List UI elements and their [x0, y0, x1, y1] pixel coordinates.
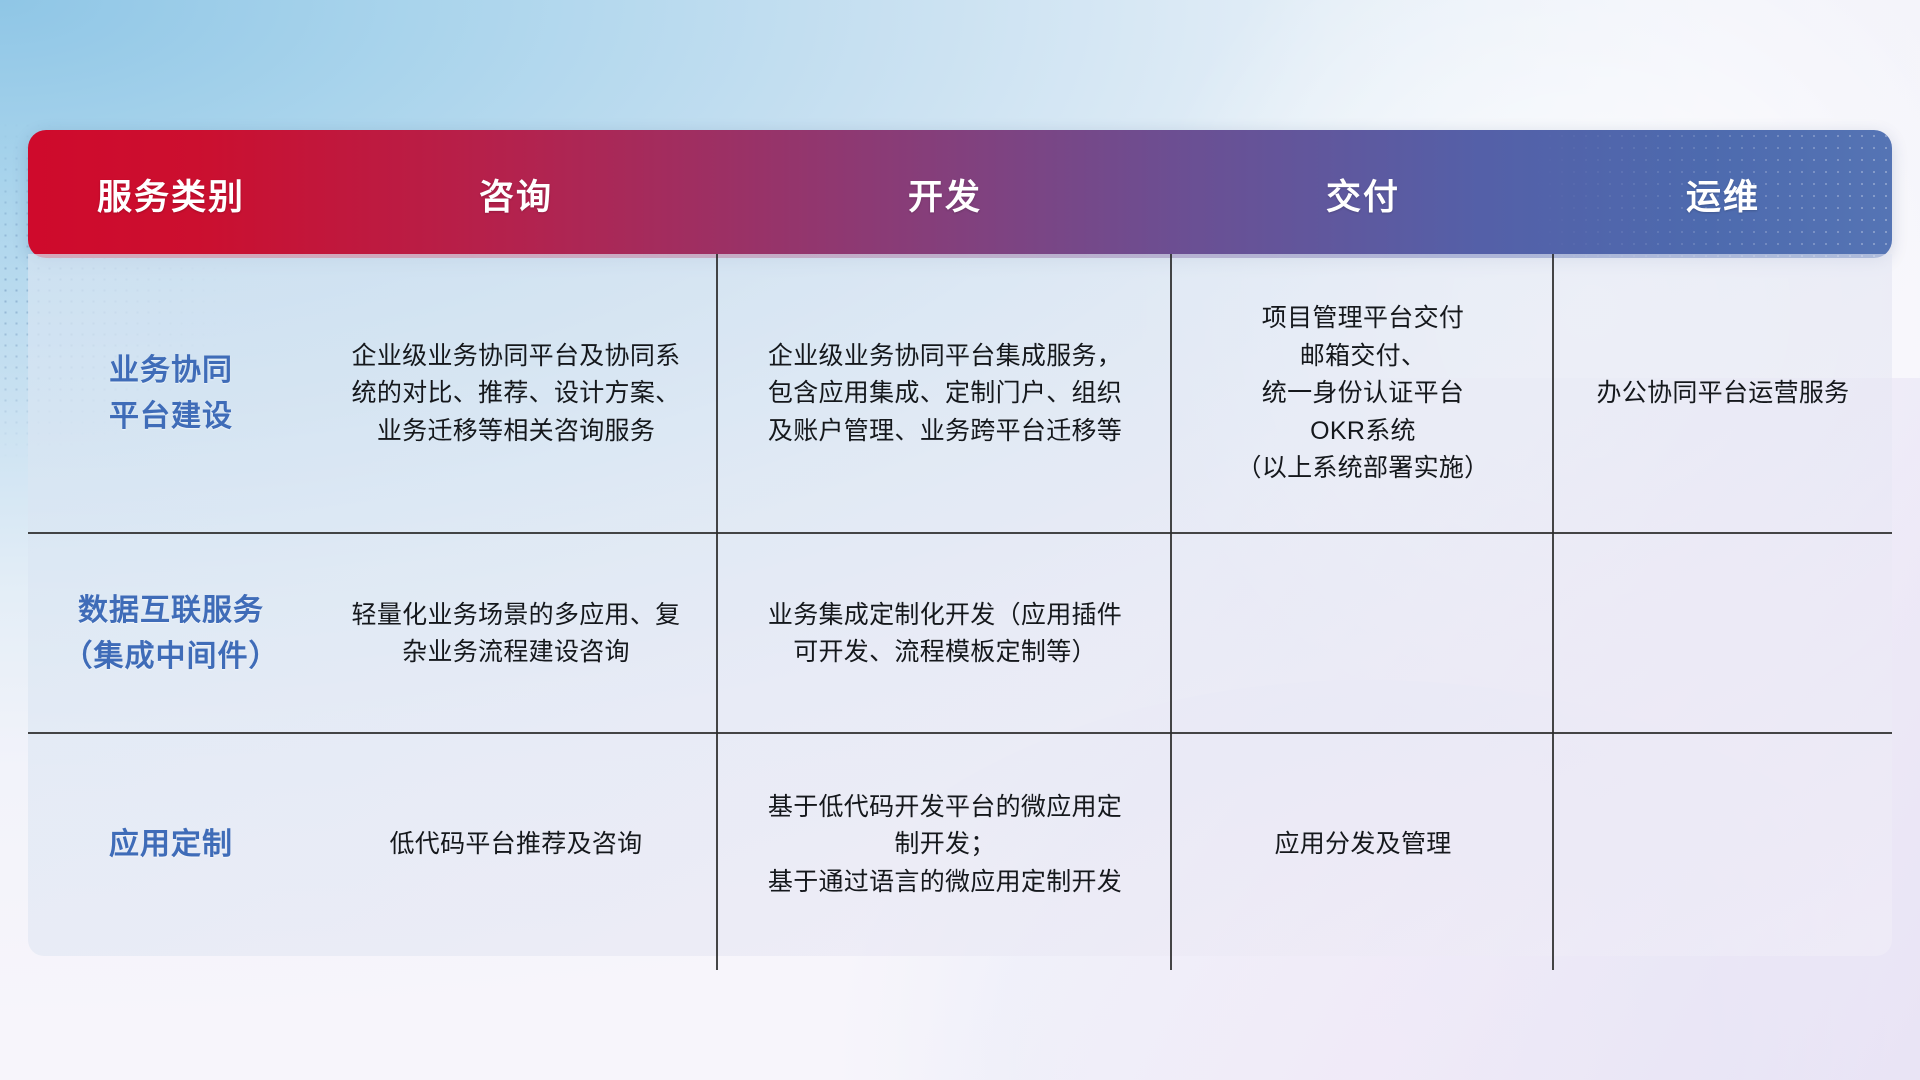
table-row: 数据互联服务 （集成中间件） 轻量化业务场景的多应用、复 杂业务流程建设咨询 业…: [28, 534, 1892, 734]
cell-delivery: 项目管理平台交付 邮箱交付、 统一身份认证平台 OKR系统 （以上系统部署实施）: [1172, 254, 1554, 534]
table-header-row: 服务类别 咨询 开发 交付 运维: [28, 130, 1892, 258]
row-category-label: 应用定制: [109, 822, 233, 868]
cell-development: 企业级业务协同平台集成服务， 包含应用集成、定制门户、组织 及账户管理、业务跨平…: [718, 254, 1172, 534]
cell-delivery: 应用分发及管理: [1172, 734, 1554, 956]
cell-consulting: 低代码平台推荐及咨询: [314, 734, 718, 956]
row-category-cell: 业务协同 平台建设: [28, 254, 314, 534]
column-header-category: 服务类别: [28, 169, 314, 220]
cell-delivery: [1172, 534, 1554, 734]
table-row: 应用定制 低代码平台推荐及咨询 基于低代码开发平台的微应用定 制开发； 基于通过…: [28, 734, 1892, 956]
row-category-label: 数据互联服务 （集成中间件）: [63, 588, 280, 679]
cell-development: 业务集成定制化开发（应用插件 可开发、流程模板定制等）: [718, 534, 1172, 734]
cell-text: 企业级业务协同平台及协同系 统的对比、推荐、设计方案、 业务迁移等相关咨询服务: [352, 338, 681, 451]
cell-consulting: 企业级业务协同平台及协同系 统的对比、推荐、设计方案、 业务迁移等相关咨询服务: [314, 254, 718, 534]
column-header-operations: 运维: [1554, 169, 1892, 220]
column-header-consulting: 咨询: [314, 169, 718, 220]
cell-text: 应用分发及管理: [1274, 826, 1451, 864]
row-category-label: 业务协同 平台建设: [109, 348, 233, 439]
table-body: 业务协同 平台建设 企业级业务协同平台及协同系 统的对比、推荐、设计方案、 业务…: [28, 254, 1892, 956]
table-row: 业务协同 平台建设 企业级业务协同平台及协同系 统的对比、推荐、设计方案、 业务…: [28, 254, 1892, 534]
cell-operations: [1554, 534, 1892, 734]
cell-text: 项目管理平台交付 邮箱交付、 统一身份认证平台 OKR系统 （以上系统部署实施）: [1236, 300, 1489, 488]
cell-text: 办公协同平台运营服务: [1596, 375, 1849, 413]
column-header-development: 开发: [718, 169, 1172, 220]
cell-text: 轻量化业务场景的多应用、复 杂业务流程建设咨询: [352, 597, 681, 672]
cell-text: 低代码平台推荐及咨询: [389, 826, 642, 864]
cell-operations: [1554, 734, 1892, 956]
cell-text: 企业级业务协同平台集成服务， 包含应用集成、定制门户、组织 及账户管理、业务跨平…: [768, 338, 1122, 451]
cell-development: 基于低代码开发平台的微应用定 制开发； 基于通过语言的微应用定制开发: [718, 734, 1172, 956]
cell-consulting: 轻量化业务场景的多应用、复 杂业务流程建设咨询: [314, 534, 718, 734]
row-category-cell: 应用定制: [28, 734, 314, 956]
column-header-delivery: 交付: [1172, 169, 1554, 220]
cell-text: 基于低代码开发平台的微应用定 制开发； 基于通过语言的微应用定制开发: [768, 789, 1122, 902]
cell-operations: 办公协同平台运营服务: [1554, 254, 1892, 534]
service-matrix-table: 服务类别 咨询 开发 交付 运维 业务协同 平台建设 企业级业务协同平台及协同系…: [28, 130, 1892, 960]
cell-text: 业务集成定制化开发（应用插件 可开发、流程模板定制等）: [768, 597, 1122, 672]
row-category-cell: 数据互联服务 （集成中间件）: [28, 534, 314, 734]
